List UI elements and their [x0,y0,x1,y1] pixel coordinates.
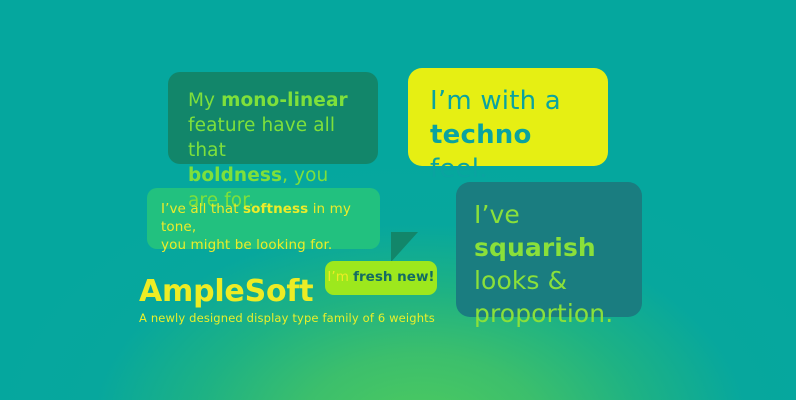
bubble-tail-mono-linear [391,232,418,262]
speech-bubble-squarish: I’ve squarish looks & proportion. [456,182,642,317]
text-run: feature have all that [188,115,335,161]
page-title: AmpleSoft [139,276,435,308]
text-run: My [188,90,221,111]
text-run: proportion. [474,299,613,328]
page-subtitle: A newly designed display type family of … [139,311,435,325]
text-run: I’m with a [430,86,561,116]
text-run: I’ve [474,200,520,229]
text-run-bold: techno [430,120,532,150]
speech-bubble-techno: I’m with a techno feel. [408,68,608,166]
text-run-bold: squarish [474,233,596,262]
text-run-bold: boldness [188,165,282,186]
wordmark: AmpleSoft A newly designed display type … [139,276,435,325]
text-run-bold: softness [243,201,308,217]
speech-bubble-softness: I’ve all that softness in my tone, you m… [147,188,380,249]
text-run-bold: mono-linear [221,90,348,111]
text-run: you might be looking for. [161,237,332,253]
text-run: looks & [474,266,567,295]
speech-bubble-mono-linear: My mono-linear feature have all that bol… [168,72,378,164]
bubble-text-squarish: I’ve squarish looks & proportion. [456,182,642,330]
text-run: I’ve all that [161,201,243,217]
type-specimen-poster: My mono-linear feature have all that bol… [0,0,796,400]
bubble-text-softness: I’ve all that softness in my tone, you m… [147,188,380,254]
text-run: feel. [430,154,488,184]
bubble-text-techno: I’m with a techno feel. [408,68,608,186]
